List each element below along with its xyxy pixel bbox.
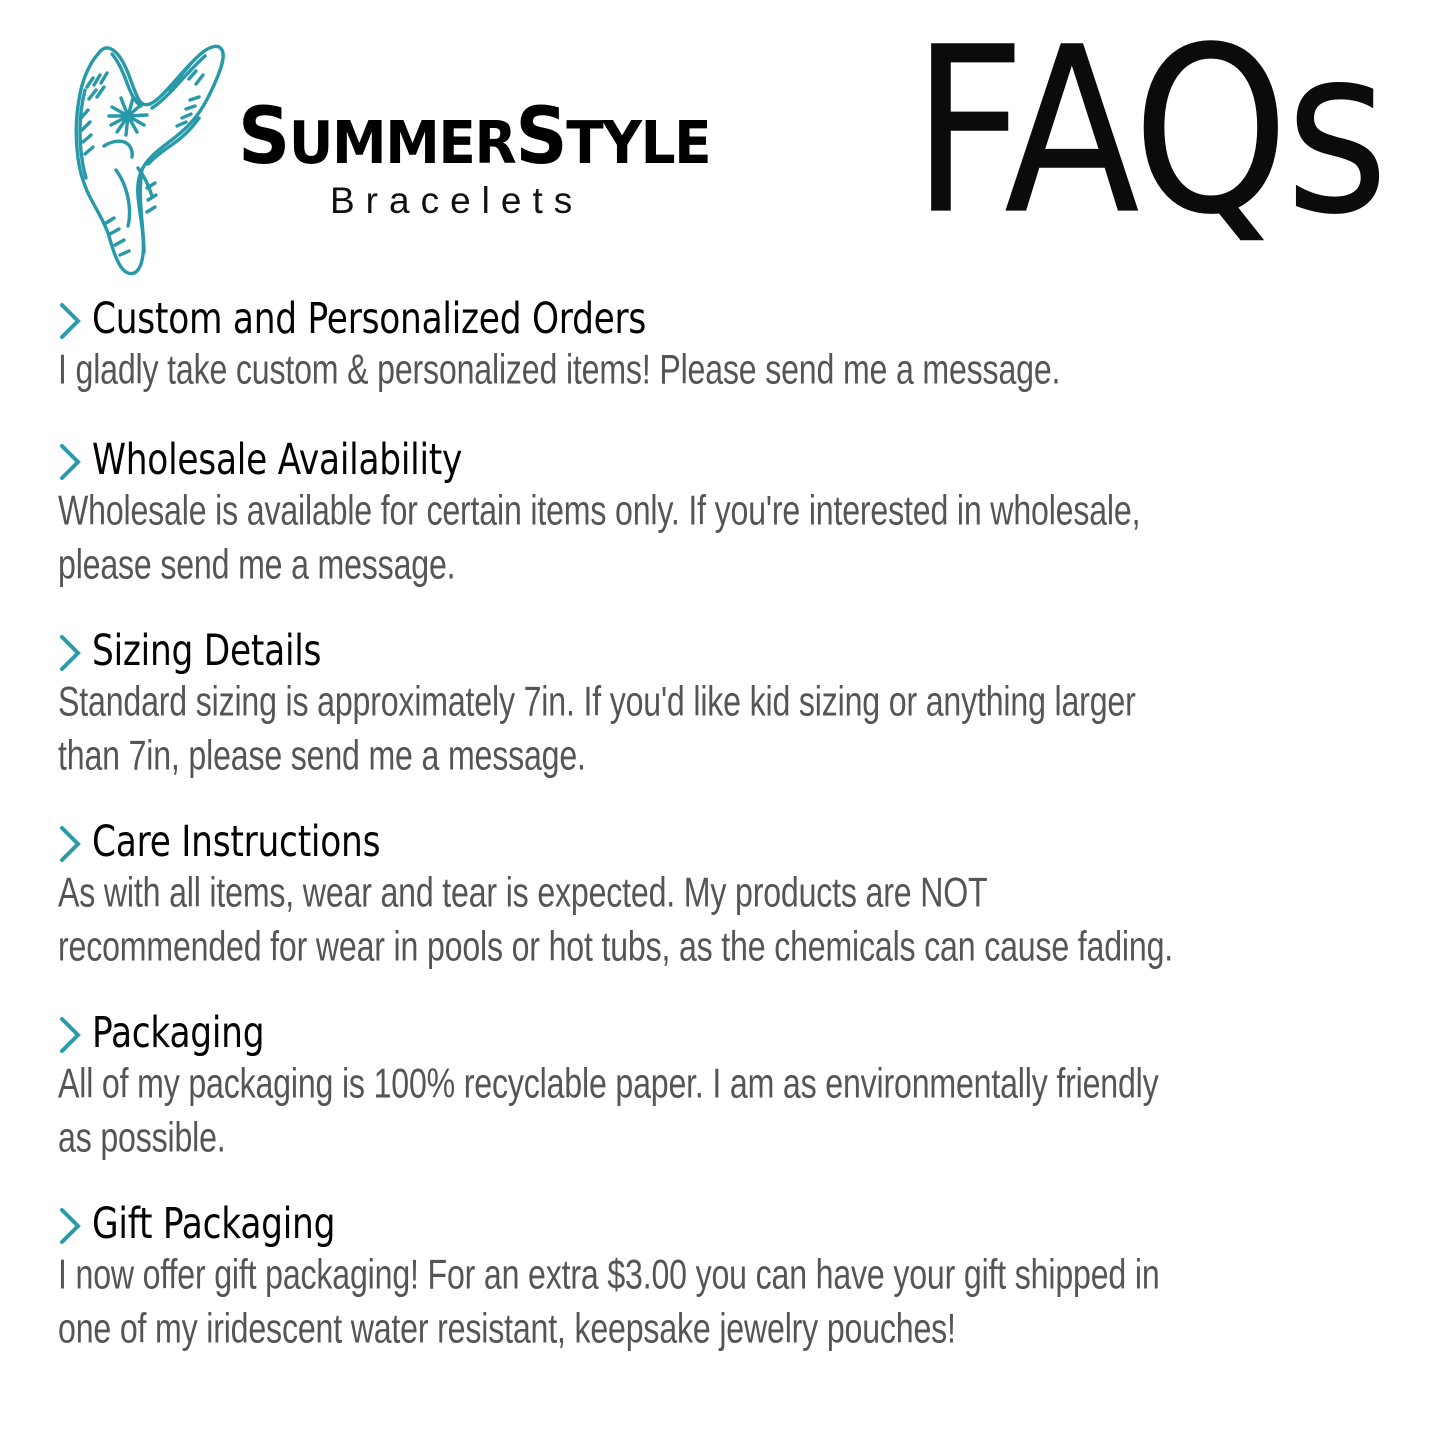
faq-item-packaging: Packaging All of my packaging is 100% re… bbox=[58, 1010, 1385, 1157]
faq-answer-text: As with all items, wear and tear is expe… bbox=[58, 867, 1179, 976]
chevron-right-icon bbox=[58, 300, 84, 342]
faq-question-text: Gift Packaging bbox=[92, 1201, 335, 1248]
faq-question-text: Wholesale Availability bbox=[92, 437, 462, 484]
faq-item-custom-orders: Custom and Personalized Orders I gladly … bbox=[58, 296, 1385, 393]
faq-answer-text: I gladly take custom & personalized item… bbox=[58, 344, 1179, 398]
faq-page: SUMMERSTYLE Bracelets FAQs Custom and Pe… bbox=[0, 0, 1445, 1445]
faq-question-text: Sizing Details bbox=[92, 628, 321, 675]
page-title: FAQs bbox=[912, 18, 1385, 248]
chevron-right-icon bbox=[58, 441, 84, 483]
starfish-icon bbox=[52, 18, 242, 280]
chevron-right-icon bbox=[58, 632, 84, 674]
faq-question-row[interactable]: Packaging bbox=[58, 1010, 1385, 1056]
brand-lockup: SUMMERSTYLE Bracelets bbox=[52, 18, 746, 280]
faq-item-care: Care Instructions As with all items, wea… bbox=[58, 819, 1385, 966]
faq-item-gift-packaging: Gift Packaging I now offer gift packagin… bbox=[58, 1201, 1385, 1348]
faq-question-row[interactable]: Care Instructions bbox=[58, 819, 1385, 865]
brand-title-s1: S bbox=[238, 92, 289, 182]
chevron-right-icon bbox=[58, 1205, 84, 1247]
faq-question-row[interactable]: Custom and Personalized Orders bbox=[58, 296, 1385, 342]
brand-title-s2: S bbox=[515, 92, 566, 182]
faq-question-row[interactable]: Wholesale Availability bbox=[58, 437, 1385, 483]
page-header: SUMMERSTYLE Bracelets FAQs bbox=[0, 0, 1445, 290]
faq-question-row[interactable]: Sizing Details bbox=[58, 628, 1385, 674]
brand-subtitle: Bracelets bbox=[330, 180, 746, 222]
faq-question-text: Custom and Personalized Orders bbox=[92, 296, 646, 343]
brand-title-ummer: UMMER bbox=[289, 108, 516, 177]
brand-title-tyle: TYLE bbox=[566, 108, 710, 177]
faq-answer-text: All of my packaging is 100% recyclable p… bbox=[58, 1058, 1179, 1167]
faq-answer-text: I now offer gift packaging! For an extra… bbox=[58, 1249, 1179, 1358]
faq-item-wholesale: Wholesale Availability Wholesale is avai… bbox=[58, 437, 1385, 584]
chevron-right-icon bbox=[58, 1014, 84, 1056]
chevron-right-icon bbox=[58, 823, 84, 865]
brand-title: SUMMERSTYLE bbox=[238, 100, 710, 174]
brand-wordmark: SUMMERSTYLE Bracelets bbox=[238, 18, 746, 222]
faq-answer-text: Wholesale is available for certain items… bbox=[58, 485, 1179, 594]
faq-item-sizing: Sizing Details Standard sizing is approx… bbox=[58, 628, 1385, 775]
faq-question-row[interactable]: Gift Packaging bbox=[58, 1201, 1385, 1247]
faq-answer-text: Standard sizing is approximately 7in. If… bbox=[58, 676, 1179, 785]
faq-question-text: Care Instructions bbox=[92, 819, 380, 866]
faq-list: Custom and Personalized Orders I gladly … bbox=[0, 296, 1445, 1347]
faq-question-text: Packaging bbox=[92, 1010, 264, 1057]
